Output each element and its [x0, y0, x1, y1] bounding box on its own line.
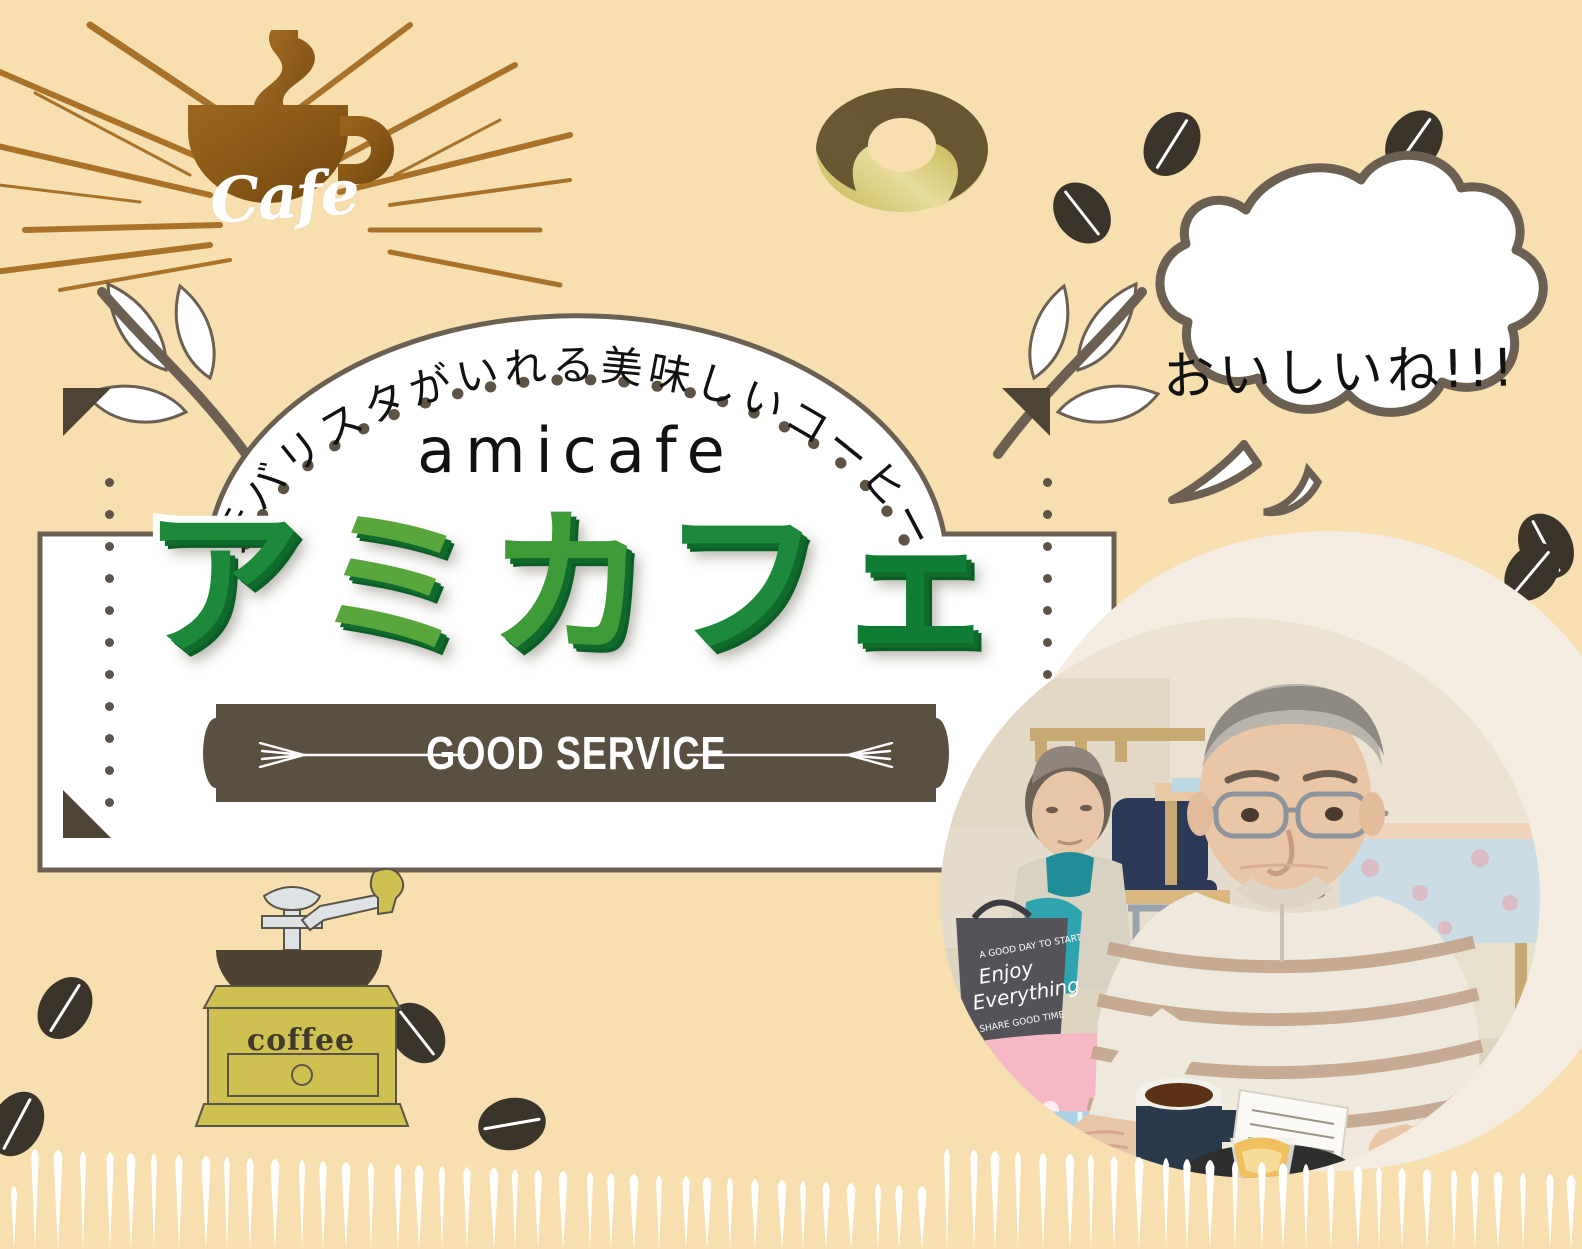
- cafe-photo: A GOOD DAY TO START Enjoy Everything SHA…: [940, 618, 1540, 1178]
- title-char-4: フ: [661, 491, 835, 678]
- coffee-bean-icon: [26, 967, 103, 1049]
- coffee-grinder-icon: [176, 858, 426, 1153]
- title-char-3: カ: [487, 491, 661, 678]
- poster-canvas: Cafe おいしいね!!!: [0, 0, 1582, 1249]
- subtitle-amicafe: amicafe: [40, 414, 1112, 487]
- grinder-label: coffee: [176, 1023, 426, 1058]
- title-char-2: ミ: [313, 491, 487, 678]
- brush-fringe-border-icon: [0, 1141, 1582, 1249]
- banner-label: GOOD SERVICE: [426, 726, 727, 780]
- corner-triangle-icon: [63, 790, 111, 838]
- title-char-1: ア: [143, 491, 314, 678]
- good-service-banner: GOOD SERVICE: [216, 704, 936, 802]
- donut-icon: [812, 82, 992, 217]
- speech-bubble-text: おいしいね!!!: [1149, 325, 1531, 410]
